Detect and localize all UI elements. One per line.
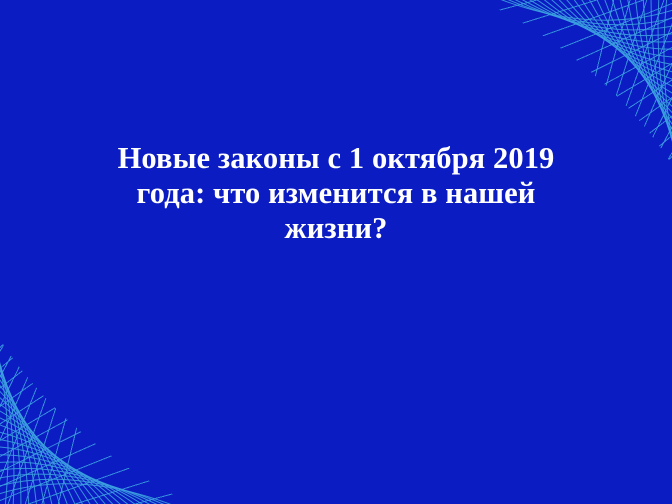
title-card: Новые законы с 1 октября 2019 года: что …	[0, 0, 672, 504]
title-line-1: Новые законы с 1 октября 2019	[26, 141, 646, 176]
page-title: Новые законы с 1 октября 2019 года: что …	[0, 141, 672, 246]
card-background	[0, 0, 672, 504]
title-line-3: жизни?	[26, 211, 646, 246]
title-line-2: года: что изменится в нашей	[26, 176, 646, 211]
